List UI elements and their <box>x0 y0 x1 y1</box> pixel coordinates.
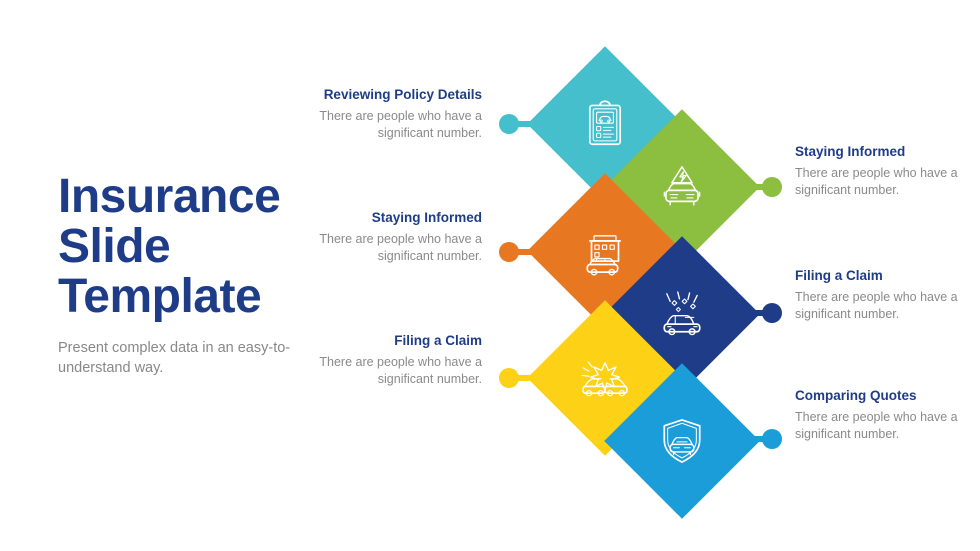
connector-dot-step-5 <box>499 368 519 388</box>
text-block-step-4: Filing a Claim There are people who have… <box>795 267 980 322</box>
step-body: There are people who have a significant … <box>795 289 980 322</box>
title-line-3: Template <box>58 272 328 322</box>
diamond-step-6[interactable] <box>604 363 760 519</box>
text-block-step-3: Staying Informed There are people who ha… <box>282 209 482 264</box>
step-body: There are people who have a significant … <box>795 165 980 198</box>
step-heading: Filing a Claim <box>795 267 980 284</box>
text-block-step-1: Reviewing Policy Details There are peopl… <box>282 86 482 141</box>
step-body: There are people who have a significant … <box>282 231 482 264</box>
step-heading: Staying Informed <box>282 209 482 226</box>
text-block-step-6: Comparing Quotes There are people who ha… <box>795 387 980 442</box>
step-heading: Staying Informed <box>795 143 980 160</box>
slide-canvas: Insurance Slide Template Present complex… <box>0 0 980 551</box>
step-body: There are people who have a significant … <box>795 409 980 442</box>
step-heading: Filing a Claim <box>282 332 482 349</box>
connector-dot-step-2 <box>762 177 782 197</box>
connector-dot-step-1 <box>499 114 519 134</box>
text-block-step-5: Filing a Claim There are people who have… <box>282 332 482 387</box>
step-body: There are people who have a significant … <box>282 354 482 387</box>
text-block-step-2: Staying Informed There are people who ha… <box>795 143 980 198</box>
step-heading: Reviewing Policy Details <box>282 86 482 103</box>
connector-dot-step-3 <box>499 242 519 262</box>
step-body: There are people who have a significant … <box>282 108 482 141</box>
shield-car-protection-icon <box>627 386 737 496</box>
connector-dot-step-6 <box>762 429 782 449</box>
step-heading: Comparing Quotes <box>795 387 980 404</box>
slide-subtitle: Present complex data in an easy-to-under… <box>58 338 308 378</box>
connector-dot-step-4 <box>762 303 782 323</box>
